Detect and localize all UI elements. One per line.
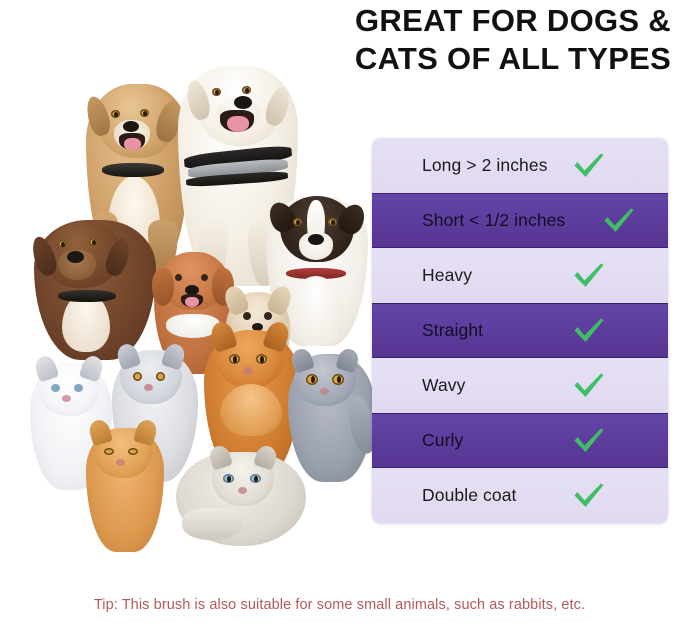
table-row[interactable]: Short < 1/2 inches (372, 193, 668, 248)
row-label: Short < 1/2 inches (422, 210, 565, 231)
bsh-nose (320, 388, 329, 395)
dog-white-nose (234, 96, 252, 109)
grey-cat-nose (144, 384, 153, 391)
cat-ragdoll-lying (176, 452, 306, 546)
row-label: Heavy (422, 265, 472, 286)
ragdoll-pupil-left (227, 476, 231, 482)
dog-tan-nose (123, 121, 139, 132)
title-line-1: GREAT FOR DOGS & (352, 2, 674, 40)
pets-group-photo (8, 62, 376, 532)
ragdoll-pupil-right (254, 476, 258, 482)
ragdoll-nose (238, 487, 247, 494)
poodle-ear-left (152, 268, 174, 306)
coat-type-table: Long > 2 inches Short < 1/2 inches Heavy… (372, 138, 668, 523)
dog-chocolate-brown (34, 220, 156, 360)
orange-tabby-eye-left (104, 448, 114, 455)
dog-tan-collar (102, 163, 164, 177)
poodle-eye-left (175, 274, 182, 281)
white-cat-nose (62, 395, 71, 402)
maine-coon-pupil-left (233, 356, 237, 363)
row-label: Double coat (422, 485, 517, 506)
brown-dog-pupil-left (61, 242, 65, 247)
chihuahua-eye-right (264, 312, 272, 320)
row-label: Wavy (422, 375, 466, 396)
orange-tabby-eye-right (128, 448, 138, 455)
chihuahua-eye-left (243, 312, 251, 320)
dog-tan-tongue (124, 138, 141, 150)
check-icon (572, 261, 606, 291)
collie-nose (308, 234, 324, 245)
check-icon (572, 371, 606, 401)
dog-tan-pupil-left (114, 112, 118, 117)
dog-white-tongue (227, 116, 249, 132)
table-row[interactable]: Straight (372, 303, 668, 358)
tip-text: Tip: This brush is also suitable for som… (0, 597, 679, 613)
row-label: Long > 2 inches (422, 155, 548, 176)
maine-coon-pupil-right (260, 356, 264, 363)
table-row[interactable]: Wavy (372, 358, 668, 413)
row-label: Curly (422, 430, 463, 451)
orange-tabby-nose (116, 459, 125, 466)
check-icon (602, 206, 636, 236)
collie-pupil-right (331, 220, 335, 225)
white-cat-eye-left (51, 384, 60, 392)
poodle-eye-right (201, 274, 208, 281)
check-icon (572, 316, 606, 346)
table-row[interactable]: Double coat (372, 468, 668, 523)
grey-cat-eye-right (156, 372, 165, 381)
collie-pupil-left (296, 220, 300, 225)
bsh-pupil-left (311, 376, 315, 383)
page-title: GREAT FOR DOGS & CATS OF ALL TYPES (352, 2, 674, 78)
check-icon (572, 151, 606, 181)
white-cat-eye-right (74, 384, 83, 392)
table-row[interactable]: Curly (372, 413, 668, 468)
check-icon (572, 481, 606, 511)
maine-coon-nose (243, 367, 253, 375)
cat-orange-tabby (86, 428, 164, 552)
dog-tan-pupil-right (143, 111, 147, 116)
poodle-tongue (185, 297, 199, 307)
check-icon (572, 426, 606, 456)
dog-white-pupil-left (215, 90, 219, 95)
dog-white-pupil-right (245, 88, 249, 93)
grey-cat-eye-left (133, 372, 142, 381)
brown-dog-collar (58, 290, 116, 302)
bsh-pupil-right (337, 376, 341, 383)
row-label: Straight (422, 320, 483, 341)
brown-dog-pupil-right (92, 240, 96, 245)
ragdoll-front-paws (182, 508, 242, 540)
brown-dog-nose (67, 251, 84, 263)
title-line-2: CATS OF ALL TYPES (352, 40, 674, 78)
table-row[interactable]: Long > 2 inches (372, 138, 668, 193)
table-row[interactable]: Heavy (372, 248, 668, 303)
